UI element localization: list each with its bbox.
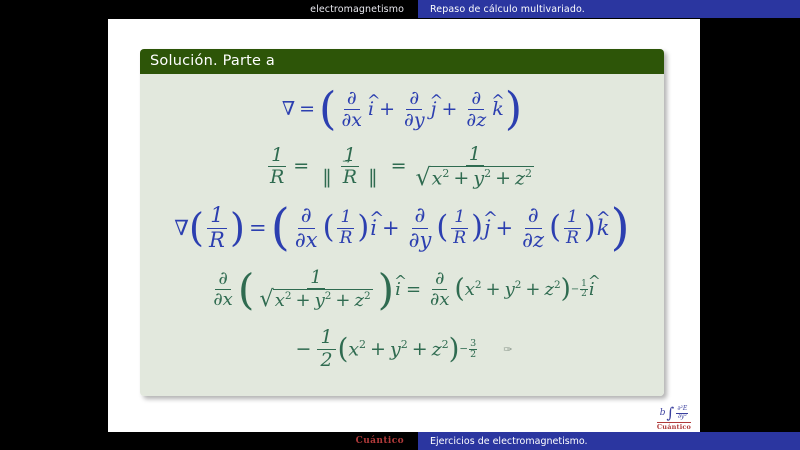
- fraction-one-over-R: 1 R: [267, 145, 287, 189]
- plus-symbol: +: [486, 279, 501, 300]
- equals-symbol: =: [299, 100, 315, 119]
- nabla-symbol: ∇: [174, 218, 189, 239]
- logo-wordmark: Cuántico: [657, 422, 691, 432]
- unit-vector-k: ^ k: [596, 218, 611, 239]
- square-root: √ x2+y2+z2: [259, 289, 372, 311]
- header-subsection-label: Repaso de cálculo multivariado.: [418, 0, 800, 18]
- partial-symbol: ∂: [466, 109, 476, 131]
- denominator-R: R: [336, 229, 355, 248]
- var-z: z: [476, 109, 486, 131]
- partial-z: ∂z: [519, 229, 547, 253]
- var-z: z: [355, 290, 364, 311]
- fraction-one-over-norm-R: 1 ‖ ⃗ R ‖: [315, 145, 384, 189]
- fraction-one-over-R: 1 R: [450, 208, 469, 248]
- exponent-2: 2: [525, 167, 532, 180]
- partial-symbol: ∂: [525, 204, 542, 229]
- partial-y: ∂y: [406, 229, 435, 253]
- exponent-2: 2: [325, 290, 332, 302]
- exponent-2: 2: [475, 279, 482, 291]
- partial-z: ∂z: [463, 110, 489, 131]
- partial-x: ∂x: [338, 110, 365, 131]
- fraction-d-dz: ∂ ∂z: [519, 204, 547, 252]
- var-x: x: [432, 167, 443, 189]
- numerator-one: 1: [317, 327, 335, 349]
- var-y: y: [390, 338, 401, 360]
- block-body: ∇ = ( ∂ ∂x ^ i + ∂ ∂y: [140, 74, 664, 396]
- partial-x: ∂x: [427, 290, 452, 310]
- partial-symbol: ∂: [215, 269, 230, 290]
- partial-symbol: ∂: [412, 204, 429, 229]
- hat-accent: ^: [430, 93, 438, 109]
- numerator-one: 1: [466, 144, 484, 166]
- pen-cursor-icon: ✑: [503, 344, 512, 355]
- hat-accent: ^: [394, 274, 402, 289]
- var-z: z: [432, 338, 442, 360]
- plus-symbol: +: [495, 167, 511, 189]
- var-y: y: [505, 279, 515, 300]
- paren-right: ): [561, 279, 571, 300]
- logo-denominator: ∂y²: [678, 414, 687, 421]
- fraction-one-over-R: 1 R: [206, 204, 228, 252]
- radical-sign: √: [259, 289, 273, 311]
- numerator-one: 1: [451, 208, 468, 228]
- denominator-R: R: [450, 229, 469, 248]
- numerator-one: 1: [337, 208, 354, 228]
- unit-vector-i: ^ i: [394, 281, 402, 299]
- partial-symbol: ∂: [404, 109, 414, 131]
- plus-symbol: +: [525, 279, 540, 300]
- partial-symbol: ∂: [213, 289, 222, 310]
- equation-grad-one-over-R: ∇ ( 1 R ) = ( ∂ ∂x ( 1: [150, 204, 654, 252]
- unit-vector-i: ^ i: [369, 218, 378, 239]
- plus-symbol: +: [370, 338, 386, 360]
- hat-accent: ^: [369, 210, 378, 228]
- paren-right: ): [505, 92, 522, 128]
- denominator-R: R: [267, 167, 287, 188]
- logo-lead-letter: b: [660, 409, 666, 418]
- partial-symbol: ∂: [341, 109, 351, 131]
- header-section-label: electromagnetismo: [0, 0, 418, 18]
- fraction-d-dx: ∂ ∂x: [427, 269, 452, 310]
- paren-left: (: [549, 216, 561, 240]
- presentation-screen: electromagnetismo Repaso de cálculo mult…: [0, 0, 800, 450]
- paren-left: (: [338, 338, 349, 360]
- radicand: x2+y2+z2: [273, 289, 373, 311]
- unit-vector-k: ^ k: [491, 100, 505, 119]
- equation-partial-x-expansion: ∂ ∂x ( 1 √ x2+y2+z2 ): [150, 268, 654, 311]
- exponent-three-halves: 3 2: [469, 339, 477, 360]
- numerator-one: 1: [268, 145, 286, 167]
- equation-gradient-operator: ∇ = ( ∂ ∂x ^ i + ∂ ∂y: [150, 88, 654, 132]
- equals-symbol: =: [391, 157, 407, 176]
- exponent-minus-sign: −: [571, 285, 579, 295]
- var-x: x: [465, 279, 475, 300]
- norm-bar-left: ‖: [322, 166, 332, 188]
- plus-symbol: +: [441, 100, 457, 119]
- var-y: y: [315, 290, 325, 311]
- plus-symbol: +: [379, 100, 395, 119]
- unit-vector-i: ^ i: [367, 100, 375, 119]
- plus-symbol: +: [496, 218, 514, 239]
- partial-symbol: ∂: [468, 88, 484, 110]
- exponent-minus-sign: −: [459, 344, 468, 354]
- exponent-one-half: 1 2: [580, 280, 588, 300]
- paren-left: (: [189, 213, 204, 244]
- numerator-one: 1: [307, 268, 324, 289]
- radicand: x2+y2+z2: [430, 166, 534, 190]
- exponent-2: 2: [515, 279, 522, 291]
- exponent-2: 2: [364, 290, 371, 302]
- slide-canvas: Solución. Parte a ∇ = ( ∂ ∂x ^ i +: [108, 19, 700, 433]
- fraction-d-dx: ∂ ∂x: [292, 204, 321, 252]
- paren-left: (: [323, 216, 335, 240]
- var-x: x: [348, 338, 359, 360]
- plus-symbol: +: [382, 218, 400, 239]
- norm-bar-right: ‖: [368, 166, 378, 188]
- fraction-d-dx: ∂ ∂x: [210, 269, 235, 310]
- exponent-2: 2: [401, 338, 408, 351]
- hat-accent: ^: [596, 210, 611, 228]
- plus-symbol: +: [412, 338, 428, 360]
- logo-math-mark: b ∫ ∂²E ∂y²: [660, 406, 688, 421]
- fraction-d-dy: ∂ ∂y: [401, 88, 428, 132]
- paren-left: (: [238, 273, 255, 307]
- integral-icon: ∫: [667, 406, 675, 421]
- denominator-R: R: [563, 229, 582, 248]
- exponent-2: 2: [442, 338, 449, 351]
- numerator-one: 1: [564, 208, 581, 228]
- denominator-two: 2: [317, 350, 335, 371]
- plus-symbol: +: [335, 290, 350, 311]
- partial-symbol: ∂: [406, 88, 422, 110]
- fraction-one-over-R: 1 R: [336, 208, 355, 248]
- partial-symbol: ∂: [344, 88, 360, 110]
- hat-accent: ^: [367, 93, 375, 109]
- fraction-one-half: 1 2: [317, 327, 335, 371]
- paren-right: ): [357, 216, 369, 240]
- partial-symbol: ∂: [522, 228, 533, 252]
- exponent-2: 2: [359, 338, 366, 351]
- partial-symbol: ∂: [409, 228, 420, 252]
- exponent-2: 2: [442, 167, 449, 180]
- partial-symbol: ∂: [432, 269, 447, 290]
- plus-symbol: +: [296, 290, 311, 311]
- numerator-one: 1: [207, 204, 226, 229]
- exponent-denominator: 2: [580, 290, 588, 299]
- equals-symbol: =: [293, 157, 309, 176]
- denominator-sqrt: √ x2+y2+z2: [413, 166, 538, 190]
- plus-symbol: +: [453, 167, 469, 189]
- paren-right: ): [230, 213, 245, 244]
- fraction-d-dy: ∂ ∂y: [406, 204, 435, 252]
- paren-left: (: [436, 216, 448, 240]
- paren-right: ): [584, 216, 596, 240]
- polynomial-sum: x2+y2+z2: [465, 280, 561, 299]
- exponent-2: 2: [484, 167, 491, 180]
- partial-x: ∂x: [210, 290, 235, 310]
- polynomial-sum: x2+y2+z2: [348, 339, 448, 359]
- var-x: x: [275, 290, 285, 311]
- var-y: y: [414, 109, 425, 131]
- paren-right: ): [611, 208, 630, 247]
- var-z: z: [515, 167, 525, 189]
- vector-arrow: ⃗: [342, 160, 358, 175]
- var-y: y: [473, 167, 484, 189]
- var-y: y: [419, 228, 431, 252]
- var-x: x: [306, 228, 318, 252]
- partial-y: ∂y: [401, 110, 428, 131]
- paren-right: ): [378, 273, 395, 307]
- var-z: z: [533, 228, 544, 252]
- unit-vector-i: ^ i: [588, 281, 596, 299]
- var-x: x: [351, 109, 362, 131]
- paren-right: ): [449, 338, 460, 360]
- hat-accent: ^: [483, 210, 492, 228]
- bottom-footer-bar: Cuántico Ejercicios de electromagnetismo…: [0, 432, 800, 450]
- exponent-2: 2: [554, 279, 561, 291]
- cuantico-logo: b ∫ ∂²E ∂y² Cuántico: [652, 399, 696, 431]
- partial-symbol: ∂: [430, 289, 439, 310]
- equation-one-over-R: 1 R = 1 ‖ ⃗ R ‖: [150, 144, 654, 191]
- hat-accent: ^: [588, 274, 596, 289]
- equals-symbol: =: [249, 218, 267, 239]
- var-x: x: [439, 289, 449, 310]
- unit-vector-j: ^ j: [430, 100, 438, 119]
- paren-left: (: [455, 279, 465, 300]
- partial-symbol: ∂: [295, 228, 306, 252]
- nabla-symbol: ∇: [282, 100, 295, 119]
- fraction-d-dx: ∂ ∂x: [338, 88, 365, 132]
- fraction-d-dz: ∂ ∂z: [463, 88, 489, 132]
- solution-block: Solución. Parte a ∇ = ( ∂ ∂x ^ i +: [140, 49, 664, 396]
- denominator-sqrt: √ x2+y2+z2: [256, 289, 375, 311]
- exponent-denominator: 2: [469, 350, 477, 360]
- fraction-one-over-sqrt: 1 √ x2+y2+z2: [413, 144, 538, 191]
- equals-symbol: =: [406, 281, 421, 299]
- square-root: √ x2+y2+z2: [416, 166, 535, 190]
- footer-author-label: Cuántico: [0, 432, 418, 450]
- fraction-one-over-sqrt: 1 √ x2+y2+z2: [256, 268, 375, 311]
- partial-x: ∂x: [292, 229, 321, 253]
- logo-fraction: ∂²E ∂y²: [676, 406, 688, 420]
- minus-symbol: −: [296, 340, 312, 359]
- hat-accent: ^: [491, 93, 505, 109]
- paren-right: ): [471, 216, 483, 240]
- fraction-one-over-R: 1 R: [563, 208, 582, 248]
- denominator-R: R: [206, 229, 228, 253]
- var-x: x: [223, 289, 233, 310]
- footer-title-label: Ejercicios de electromagnetismo.: [418, 432, 800, 450]
- var-z: z: [545, 279, 554, 300]
- equation-derivative-result: − 1 2 ( x2+y2+z2 ) − 3 2 ✑: [150, 327, 654, 371]
- top-header-bar: electromagnetismo Repaso de cálculo mult…: [0, 0, 800, 18]
- radical-sign: √: [416, 166, 431, 190]
- denominator-norm-R: ‖ ⃗ R ‖: [315, 167, 384, 188]
- unit-vector-j: ^ j: [483, 218, 492, 239]
- paren-left: (: [271, 208, 290, 247]
- vector-R: ⃗ R: [342, 167, 358, 188]
- paren-left: (: [319, 92, 336, 128]
- block-title: Solución. Parte a: [140, 49, 664, 74]
- exponent-2: 2: [285, 290, 292, 302]
- partial-symbol: ∂: [298, 204, 315, 229]
